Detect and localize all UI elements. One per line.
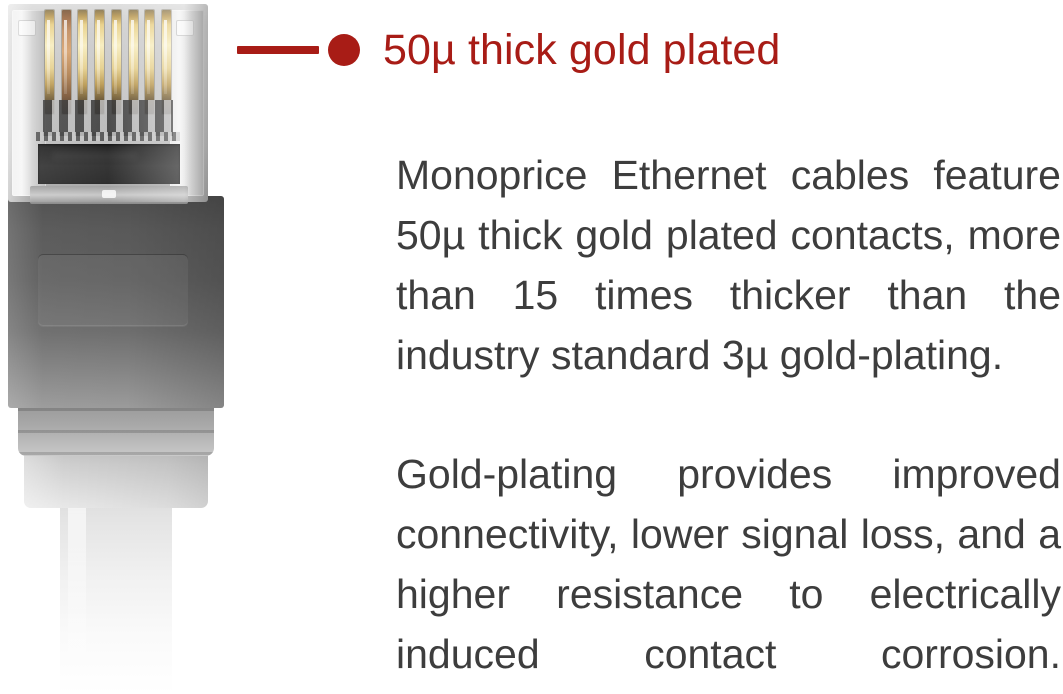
plug-bottom-lip [30,186,188,204]
contact-pin-4 [95,10,104,114]
contact-pin-3 [78,10,87,114]
description-paragraph-1: Monoprice Ethernet cables feature 50µ th… [396,145,1061,385]
contact-pin-8 [162,10,171,114]
product-feature-panel: 50µ thick gold plated Monoprice Ethernet… [0,0,1063,694]
plug-rail-right [170,10,204,196]
feature-text-column: 50µ thick gold plated Monoprice Ethernet… [237,0,1063,694]
contact-pin-1 [45,10,54,114]
feature-headline: 50µ thick gold plated [383,25,780,75]
plug-rail-left [12,10,46,196]
boot-recessed-panel [38,254,188,326]
description-paragraph-2: Gold-plating provides improved connectiv… [396,444,1061,694]
connector-boot [8,196,224,408]
rj45-connector-image [0,0,232,694]
feature-description: Monoprice Ethernet cables feature 50µ th… [396,145,1061,694]
gold-contact-pins [45,10,171,114]
contact-pin-7 [145,10,154,114]
contact-pin-5 [112,10,121,114]
filled-circle-bullet-icon [328,34,360,66]
horizontal-rule-icon [237,46,319,54]
feature-headline-row: 50µ thick gold plated [237,22,780,78]
contact-pin-6 [129,10,138,114]
plug-housing [8,4,208,202]
plug-window-band [38,144,180,184]
contact-pin-2 [62,10,71,114]
pin-slots [43,100,173,136]
plug-label-strip [36,132,180,141]
